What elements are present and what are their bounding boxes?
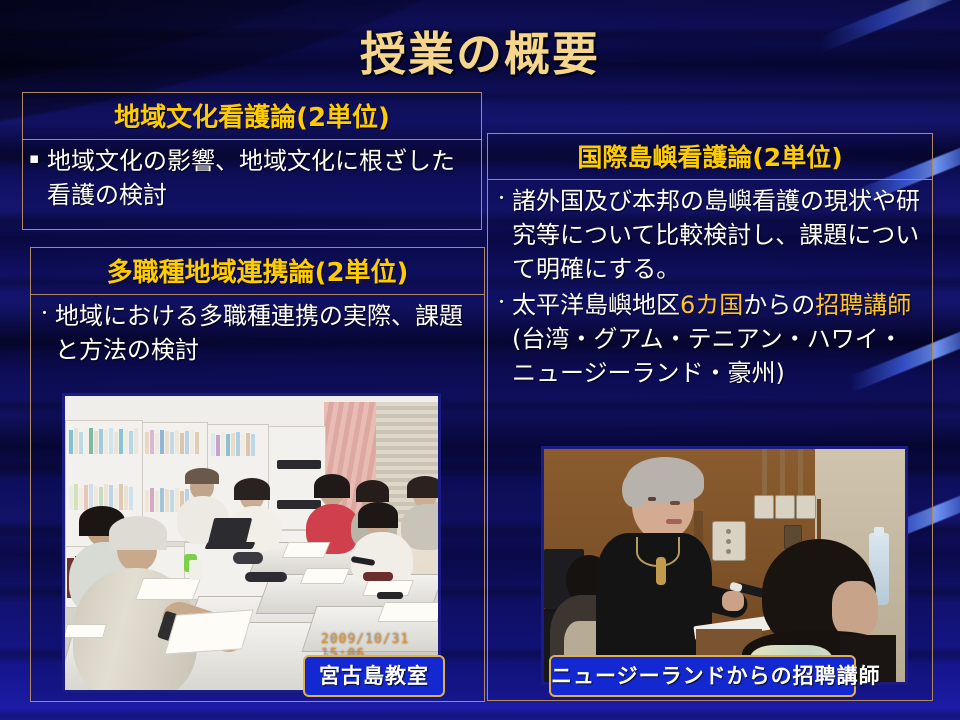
bullet-marker-icon: ▪ (29, 144, 47, 173)
plain-text: (台湾・グアム・テニアン・ハワイ・ニュージーランド・豪州) (512, 325, 903, 387)
plain-text: 太平洋島嶼地区 (512, 291, 680, 319)
box-body-kokusai-tousho: ・ 諸外国及び本邦の島嶼看護の現状や研究等について比較検討し、課題について明確に… (488, 180, 932, 396)
slide-title: 授業の概要 (0, 18, 960, 84)
content-box-chiiki-bunka: 地域文化看護論(2単位) ▪ 地域文化の影響、地域文化に根ざした看護の検討 (22, 92, 482, 230)
highlighted-text: 招聘講師 (815, 291, 911, 319)
photo-nz-lecturer (541, 446, 908, 685)
bullet-item: ▪ 地域文化の影響、地域文化に根ざした看護の検討 (29, 144, 473, 212)
bullet-marker-icon: ・ (37, 299, 55, 328)
box-heading-tashokushu: 多職種地域連携論(2単位) (31, 248, 484, 295)
photo-caption-miyakojima: 宮古島教室 (303, 655, 445, 697)
bullet-text-rich: 太平洋島嶼地区6カ国からの招聘講師(台湾・グアム・テニアン・ハワイ・ニュージーラ… (512, 288, 924, 390)
slide-canvas: 授業の概要 地域文化看護論(2単位) ▪ 地域文化の影響、地域文化に根ざした看護… (0, 0, 960, 720)
box-heading-kokusai-tousho: 国際島嶼看護論(2単位) (488, 134, 932, 180)
bullet-text: 諸外国及び本邦の島嶼看護の現状や研究等について比較検討し、課題について明確にする… (512, 184, 924, 286)
box-body-tashokushu: ・ 地域における多職種連携の実際、課題と方法の検討 (31, 295, 484, 373)
box-heading-chiiki-bunka: 地域文化看護論(2単位) (23, 93, 481, 140)
bullet-item: ・ 地域における多職種連携の実際、課題と方法の検討 (37, 299, 476, 367)
bullet-marker-icon: ・ (494, 184, 512, 213)
plain-text: からの (743, 291, 815, 319)
bullet-item: ・ 太平洋島嶼地区6カ国からの招聘講師(台湾・グアム・テニアン・ハワイ・ニュージ… (494, 288, 924, 390)
photo-caption-nz: ニュージーランドからの招聘講師 (549, 655, 856, 697)
bullet-marker-icon: ・ (494, 288, 512, 317)
bullet-item: ・ 諸外国及び本邦の島嶼看護の現状や研究等について比較検討し、課題について明確に… (494, 184, 924, 286)
bullet-text: 地域文化の影響、地域文化に根ざした看護の検討 (47, 144, 473, 212)
bullet-text: 地域における多職種連携の実際、課題と方法の検討 (55, 299, 476, 367)
photo-miyakojima-classroom: 2009/10/31 15:06 (62, 393, 441, 693)
box-body-chiiki-bunka: ▪ 地域文化の影響、地域文化に根ざした看護の検討 (23, 140, 481, 218)
highlighted-text: 6カ国 (680, 291, 743, 319)
